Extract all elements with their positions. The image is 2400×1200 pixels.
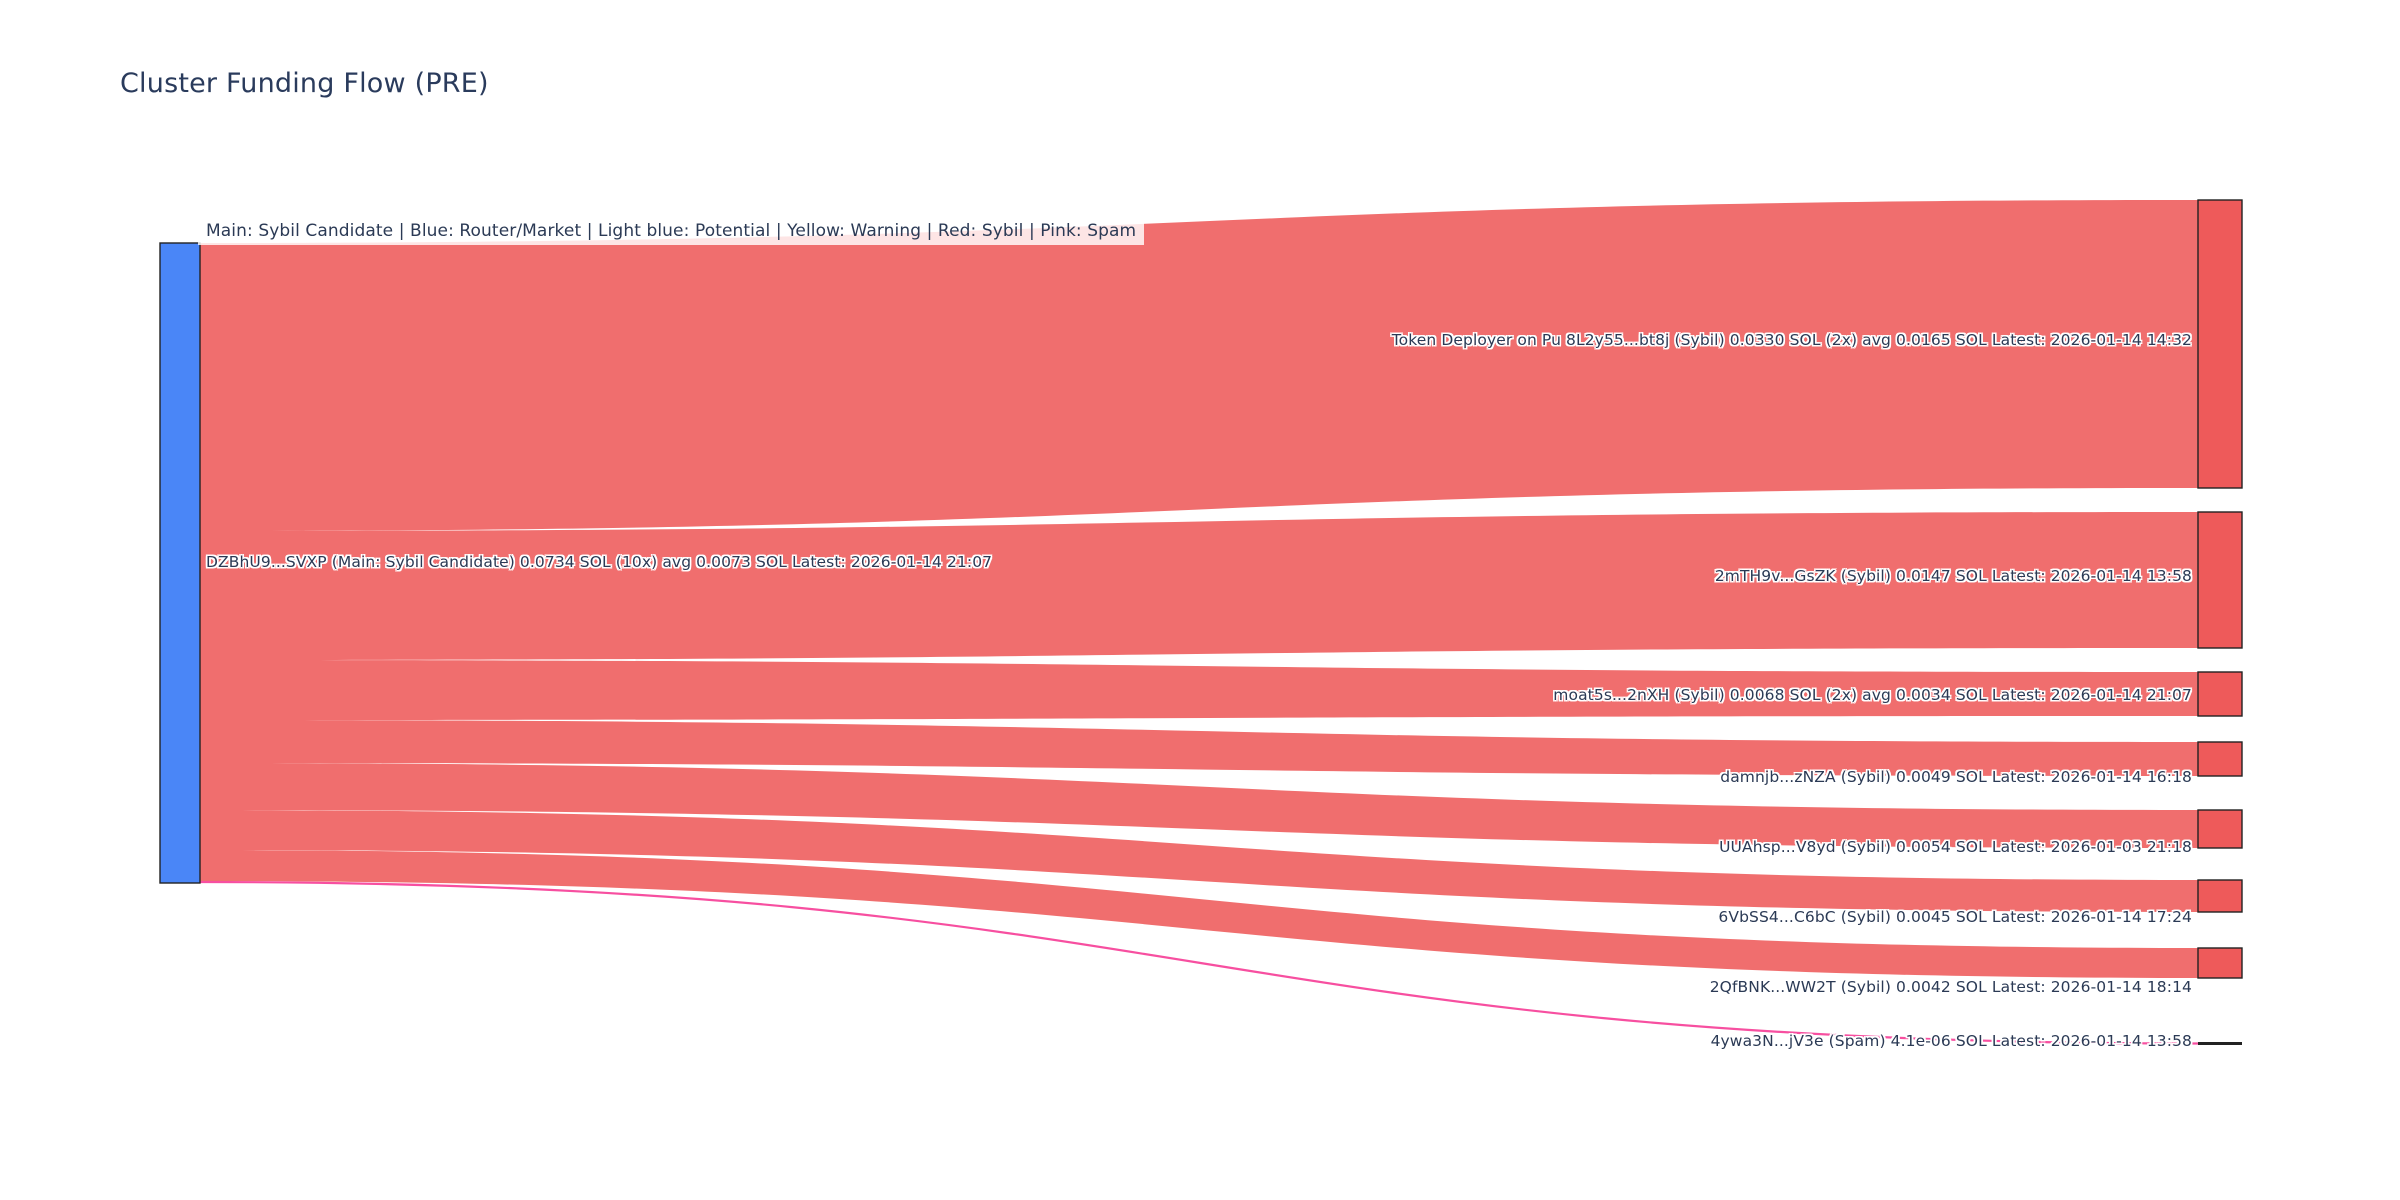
sankey-node-source[interactable] <box>160 243 200 883</box>
node-label-target: UUAhsp...V8yd (Sybil) 0.0054 SOL Latest:… <box>1719 838 2192 856</box>
sankey-node-target[interactable] <box>2198 200 2242 488</box>
sankey-node-target[interactable] <box>2198 810 2242 848</box>
sankey-diagram <box>0 0 2400 1200</box>
sankey-node-target[interactable] <box>2198 880 2242 912</box>
node-label-source: DZBhU9...SVXP (Main: Sybil Candidate) 0.… <box>206 553 992 571</box>
node-label-target: 2QfBNK...WW2T (Sybil) 0.0042 SOL Latest:… <box>1710 978 2192 996</box>
legend: Main: Sybil Candidate | Blue: Router/Mar… <box>198 218 1144 245</box>
sankey-node-target[interactable] <box>2198 742 2242 776</box>
node-label-target: 6VbSS4...C6bC (Sybil) 0.0045 SOL Latest:… <box>1718 908 2192 926</box>
sankey-node-target[interactable] <box>2198 512 2242 648</box>
sankey-node-target[interactable] <box>2198 948 2242 978</box>
sankey-link[interactable] <box>200 512 2198 660</box>
sankey-node-target[interactable] <box>2198 672 2242 716</box>
node-label-target: Token Deployer on Pu 8L2y55...bt8j (Sybi… <box>1392 331 2192 349</box>
node-label-target: 4ywa3N...jV3e (Spam) 4.1e-06 SOL Latest:… <box>1711 1032 2192 1050</box>
node-label-target: moat5s...2nXH (Sybil) 0.0068 SOL (2x) av… <box>1553 686 2192 704</box>
node-label-target: 2mTH9v...GsZK (Sybil) 0.0147 SOL Latest:… <box>1715 567 2192 585</box>
sankey-link[interactable] <box>200 200 2198 531</box>
node-label-target: damnjb...zNZA (Sybil) 0.0049 SOL Latest:… <box>1720 768 2192 786</box>
